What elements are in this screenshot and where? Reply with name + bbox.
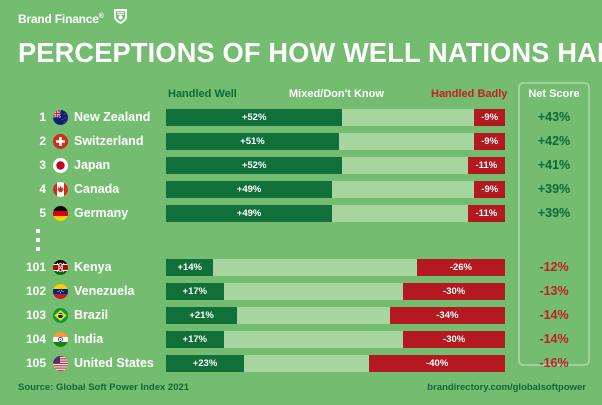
bar-segment-handled-badly: -40% xyxy=(369,355,505,372)
flag-japan-icon xyxy=(53,158,68,173)
bar-segment-mixed xyxy=(213,259,416,276)
table-row: 105United States+23%-40%-16% xyxy=(0,353,602,374)
bar-segment-mixed xyxy=(224,283,404,300)
page-title: PERCEPTIONS OF HOW WELL NATIONS HANDLED … xyxy=(18,38,571,68)
country-name: Germany xyxy=(74,203,128,224)
bar-segment-mixed xyxy=(342,109,474,126)
flag-switzerland-icon xyxy=(53,134,68,149)
bar-segment-handled-badly: -9% xyxy=(474,109,505,126)
bar-segment-handled-badly: -26% xyxy=(417,259,505,276)
table-row: 103Brazil+21%-34%-14% xyxy=(0,305,602,326)
table-row: 2Switzerland+51%-9%+42% xyxy=(0,131,602,152)
country-name: Kenya xyxy=(74,257,112,278)
stacked-bar: +17%-30% xyxy=(166,331,505,348)
footer-url[interactable]: brandirectory.com/globalsoftpower xyxy=(427,382,586,393)
flag-new-zealand-icon xyxy=(53,110,68,125)
bar-segment-mixed xyxy=(224,331,404,348)
country-name: Canada xyxy=(74,179,119,200)
bar-segment-mixed xyxy=(244,355,369,372)
rank-number: 102 xyxy=(14,281,46,302)
footer-source: Source: Global Soft Power Index 2021 xyxy=(18,382,189,393)
bar-segment-handled-badly: -30% xyxy=(403,283,505,300)
stacked-bar: +17%-30% xyxy=(166,283,505,300)
country-name: United States xyxy=(74,353,154,374)
net-score-value: +43% xyxy=(518,107,590,128)
rank-number: 105 xyxy=(14,353,46,374)
column-header-net-score: Net Score xyxy=(518,88,590,100)
table-row: 102Venezuela+17%-30%-13% xyxy=(0,281,602,302)
bar-segment-handled-badly: -11% xyxy=(468,157,505,174)
rank-number: 104 xyxy=(14,329,46,350)
flag-germany-icon xyxy=(53,206,68,221)
net-score-value: -13% xyxy=(518,281,590,302)
column-header-handled-well: Handled Well xyxy=(168,88,237,100)
bar-segment-handled-badly: -11% xyxy=(468,205,505,222)
net-score-value: -12% xyxy=(518,257,590,278)
bar-segment-handled-well: +17% xyxy=(166,331,224,348)
net-score-value: +41% xyxy=(518,155,590,176)
bar-segment-handled-well: +52% xyxy=(166,157,342,174)
table-row: 3Japan+52%-11%+41% xyxy=(0,155,602,176)
rank-number: 101 xyxy=(14,257,46,278)
infographic-canvas: Brand Finance® PERCEPTIONS OF HOW WELL N… xyxy=(0,0,602,405)
brand-wordmark: Brand Finance® xyxy=(18,12,104,26)
bar-segment-mixed xyxy=(237,307,390,324)
country-name: New Zealand xyxy=(74,107,150,128)
bar-segment-handled-well: +21% xyxy=(166,307,237,324)
bar-segment-mixed xyxy=(342,157,467,174)
stacked-bar: +52%-11% xyxy=(166,157,505,174)
bar-segment-handled-badly: -30% xyxy=(403,331,505,348)
flag-venezuela-icon xyxy=(53,284,68,299)
flag-brazil-icon xyxy=(53,308,68,323)
bar-segment-handled-well: +51% xyxy=(166,133,339,150)
country-name: Switzerland xyxy=(74,131,143,152)
table-row: 1New Zealand+52%-9%+43% xyxy=(0,107,602,128)
bar-segment-handled-well: +23% xyxy=(166,355,244,372)
bar-segment-handled-badly: -9% xyxy=(474,133,505,150)
stacked-bar: +49%-9% xyxy=(166,181,505,198)
bar-segment-handled-well: +17% xyxy=(166,283,224,300)
flag-united-states-icon xyxy=(53,356,68,371)
table-row: 101Kenya+14%-26%-12% xyxy=(0,257,602,278)
bar-segment-handled-well: +14% xyxy=(166,259,213,276)
flag-canada-icon xyxy=(53,182,68,197)
stacked-bar: +51%-9% xyxy=(166,133,505,150)
column-header-handled-badly: Handled Badly xyxy=(431,88,507,100)
brand-logo: Brand Finance® xyxy=(18,8,128,30)
country-name: India xyxy=(74,329,103,350)
bar-segment-mixed xyxy=(339,133,475,150)
net-score-value: +39% xyxy=(518,179,590,200)
country-name: Japan xyxy=(74,155,110,176)
rank-number: 1 xyxy=(14,107,46,128)
country-name: Brazil xyxy=(74,305,108,326)
net-score-value: +39% xyxy=(518,203,590,224)
bar-segment-mixed xyxy=(332,181,474,198)
net-score-value: -14% xyxy=(518,305,590,326)
net-score-value: -14% xyxy=(518,329,590,350)
rank-number: 3 xyxy=(14,155,46,176)
rank-number: 5 xyxy=(14,203,46,224)
net-score-value: +42% xyxy=(518,131,590,152)
table-row: 104India+17%-30%-14% xyxy=(0,329,602,350)
column-header-mixed: Mixed/Don't Know xyxy=(289,88,384,100)
flag-kenya-icon xyxy=(53,260,68,275)
bar-segment-handled-well: +52% xyxy=(166,109,342,126)
table-row: 4Canada+49%-9%+39% xyxy=(0,179,602,200)
stacked-bar: +52%-9% xyxy=(166,109,505,126)
stacked-bar: +49%-11% xyxy=(166,205,505,222)
stacked-bar: +23%-40% xyxy=(166,355,505,372)
rank-number: 2 xyxy=(14,131,46,152)
table-row: 5Germany+49%-11%+39% xyxy=(0,203,602,224)
rank-number: 4 xyxy=(14,179,46,200)
country-name: Venezuela xyxy=(74,281,134,302)
vertical-ellipsis-icon xyxy=(36,229,42,256)
net-score-value: -16% xyxy=(518,353,590,374)
bar-segment-handled-badly: -34% xyxy=(390,307,505,324)
stacked-bar: +14%-26% xyxy=(166,259,505,276)
flag-india-icon xyxy=(53,332,68,347)
rank-number: 103 xyxy=(14,305,46,326)
bar-segment-handled-well: +49% xyxy=(166,205,332,222)
shield-crest-icon xyxy=(113,8,128,30)
bar-segment-mixed xyxy=(332,205,468,222)
bar-segment-handled-well: +49% xyxy=(166,181,332,198)
stacked-bar: +21%-34% xyxy=(166,307,505,324)
bar-segment-handled-badly: -9% xyxy=(474,181,505,198)
